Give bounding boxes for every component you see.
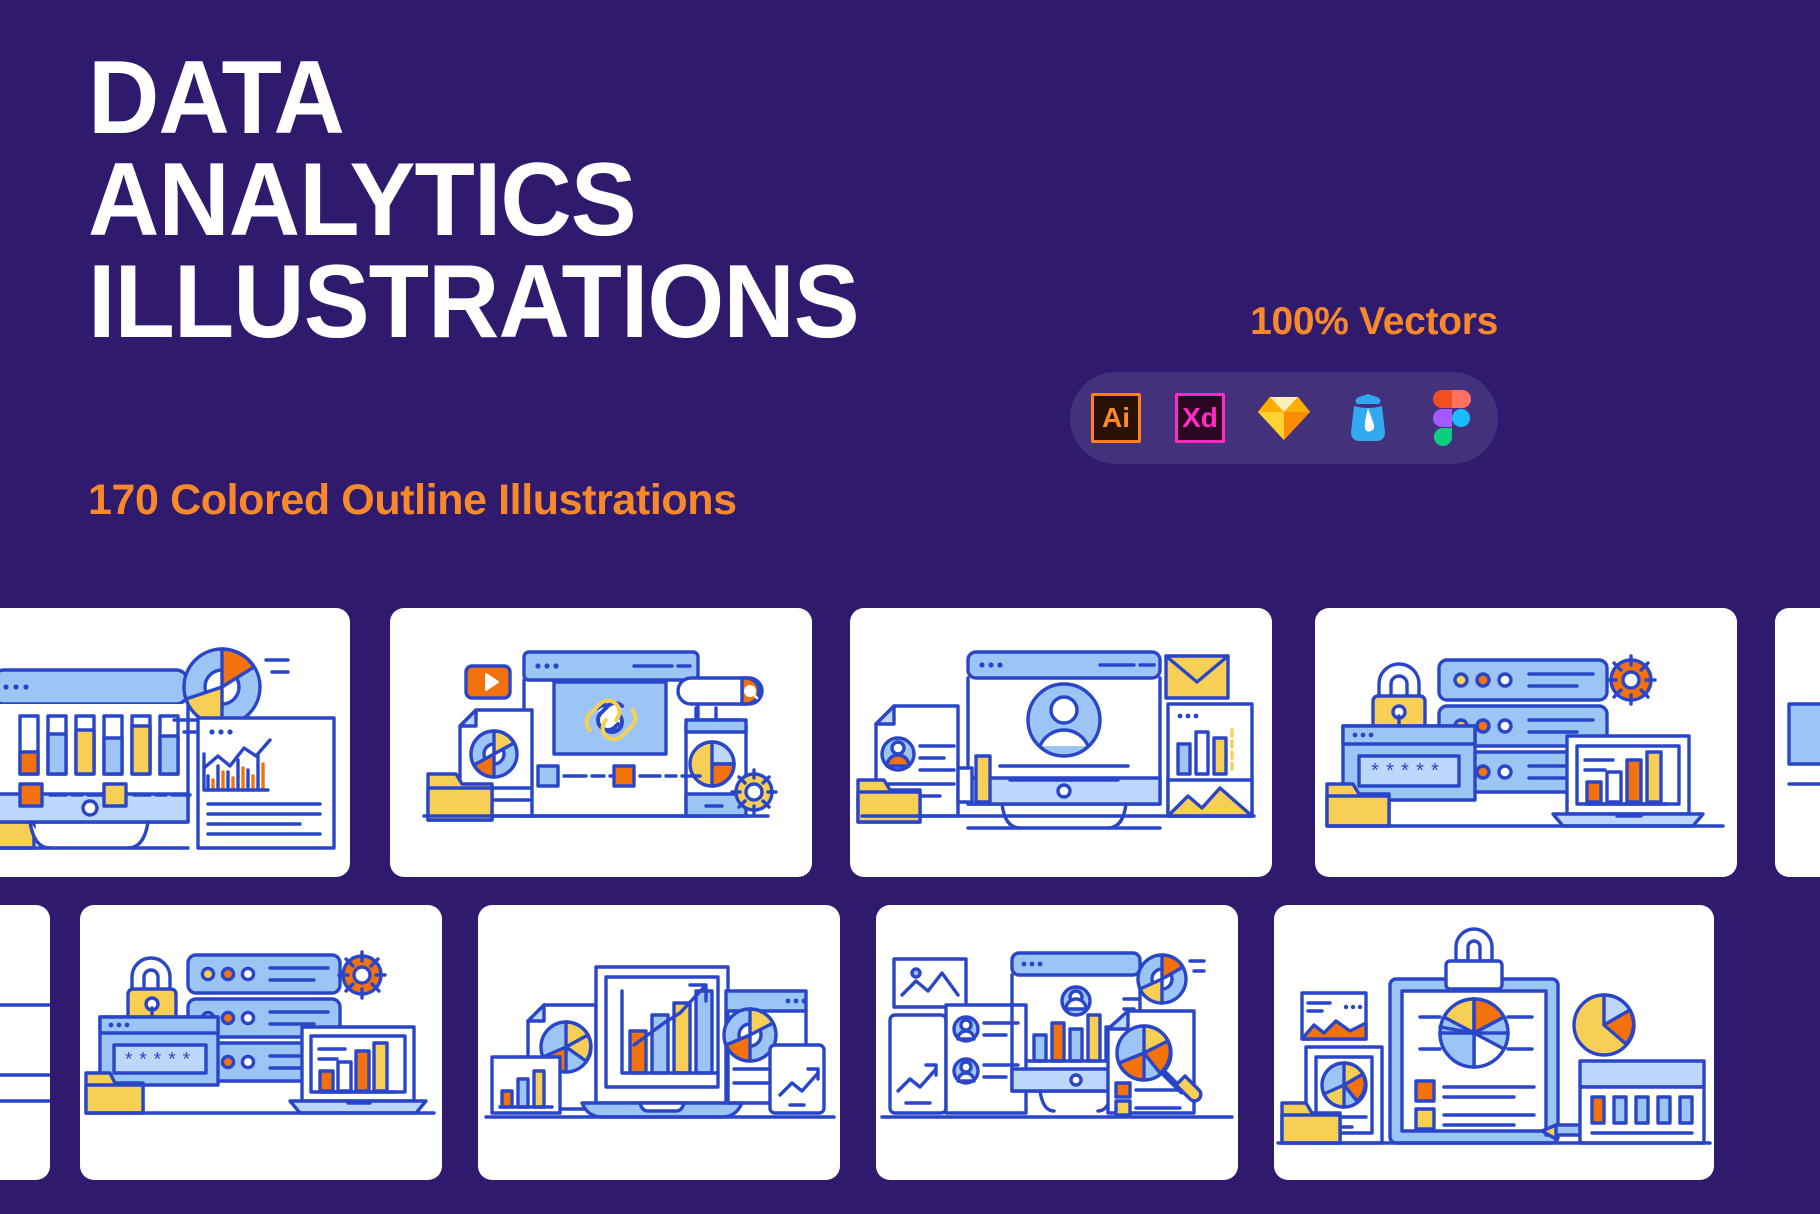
card-partial-left[interactable] — [0, 905, 50, 1180]
browser-link-video-search — [390, 608, 812, 877]
sketch-icon — [1257, 391, 1311, 445]
title-line-3: ILLUSTRATIONS — [88, 252, 1038, 354]
card-partial-right[interactable] — [1775, 608, 1820, 877]
adobe-xd-label: Xd — [1175, 393, 1225, 443]
svg-text:*****: ***** — [123, 1050, 195, 1072]
adobe-illustrator-icon: Ai — [1089, 391, 1143, 445]
card-user-profile-analytics[interactable] — [850, 608, 1272, 877]
figma-icon — [1425, 391, 1479, 445]
poster-canvas: DATA ANALYTICS ILLUSTRATIONS 170 Colored… — [0, 0, 1820, 1214]
dashboard-monitor-donut-chart — [0, 608, 350, 877]
affinity-designer-icon — [1341, 391, 1395, 445]
monitor-user-magnifier-donut — [876, 905, 1238, 1180]
format-badge-bar: Ai Xd — [1070, 372, 1498, 464]
title-line-1: DATA — [88, 48, 1038, 150]
clipped-illustration — [0, 905, 50, 1180]
laptop-bar-chart-pie-mobile — [478, 905, 840, 1180]
card-data-research[interactable] — [876, 905, 1238, 1180]
vectors-label: 100% Vectors — [1250, 300, 1498, 344]
servers-lock-password-gear-laptop: ***** — [1315, 608, 1737, 877]
hero-banner: DATA ANALYTICS ILLUSTRATIONS 170 Colored… — [0, 0, 1820, 608]
card-server-security[interactable]: ***** — [1315, 608, 1737, 877]
title-line-2: ANALYTICS — [88, 150, 1038, 252]
clipped-illustration — [1775, 608, 1820, 877]
card-analytics-dashboard[interactable] — [0, 608, 350, 877]
servers-lock-password-gear-laptop: ***** — [80, 905, 442, 1180]
monitor-user-mail-document — [850, 608, 1272, 877]
card-seo-link-building[interactable] — [390, 608, 812, 877]
card-server-security-2[interactable]: ***** — [80, 905, 442, 1180]
svg-text:*****: ***** — [1369, 762, 1444, 785]
card-report-clipboard[interactable] — [1274, 905, 1714, 1180]
page-title: DATA ANALYTICS ILLUSTRATIONS — [88, 48, 1088, 354]
clipboard-pie-chart-report — [1274, 905, 1714, 1180]
adobe-illustrator-label: Ai — [1091, 393, 1141, 443]
adobe-xd-icon: Xd — [1173, 391, 1227, 445]
page-subtitle: 170 Colored Outline Illustrations — [88, 476, 737, 525]
card-growth-bar-chart[interactable] — [478, 905, 840, 1180]
